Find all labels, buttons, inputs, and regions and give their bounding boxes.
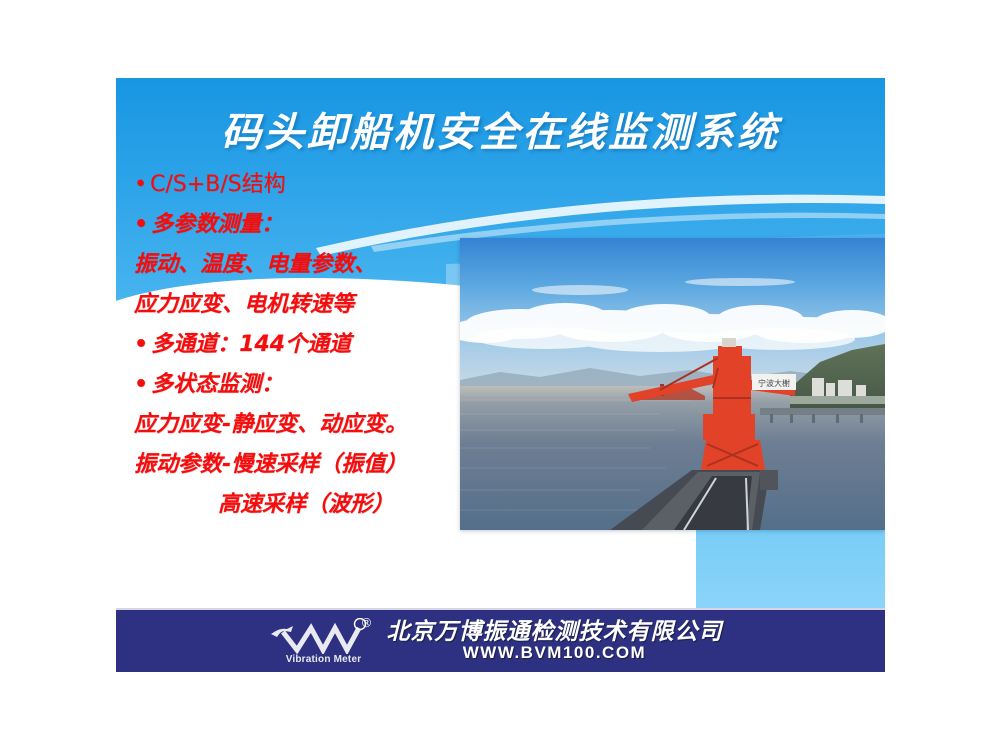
- body-line-8-text: 高速采样（波形）: [218, 492, 394, 517]
- bullet-dot: •: [134, 205, 148, 245]
- bullet-dot: •: [134, 325, 148, 365]
- footer-bar: ® Vibration Meter 北京万博振通检测技术有限公司 WWW.BVM…: [116, 608, 885, 672]
- body-line-7-text: 振动参数-慢速采样（振值）: [134, 452, 407, 477]
- body-line-3-text: 应力应变、电机转速等: [134, 292, 354, 317]
- footer-content: ® Vibration Meter 北京万博振通检测技术有限公司 WWW.BVM…: [267, 618, 723, 664]
- body-line-4-text: 多通道：144个通道: [151, 332, 351, 357]
- company-name: 北京万博振通检测技术有限公司: [387, 620, 723, 644]
- page-title: 码头卸船机安全在线监测系统: [116, 100, 885, 158]
- logo-caption: Vibration Meter: [275, 654, 373, 665]
- waveform-icon: [267, 618, 375, 654]
- bullet-dot: •: [134, 365, 148, 405]
- slide-canvas: 码头卸船机安全在线监测系统 •C/S+B/S结构 •多参数测量： 振动、温度、电…: [0, 0, 1000, 750]
- harbor-crane-photo: 宁波大榭: [460, 238, 885, 530]
- body-line-0: •C/S+B/S结构: [134, 165, 554, 205]
- content-panel: 码头卸船机安全在线监测系统 •C/S+B/S结构 •多参数测量： 振动、温度、电…: [116, 78, 885, 608]
- body-line-5-text: 多状态监测：: [151, 372, 283, 397]
- body-line-6-text: 应力应变-静应变、动应变。: [134, 412, 407, 437]
- registered-trademark-icon: ®: [361, 617, 373, 629]
- body-line-2-text: 振动、温度、电量参数、: [134, 252, 376, 277]
- vibration-meter-logo: ® Vibration Meter: [267, 618, 375, 664]
- footer-text-block: 北京万博振通检测技术有限公司 WWW.BVM100.COM: [387, 620, 723, 662]
- bullet-dot: •: [134, 165, 147, 205]
- body-line-1-text: 多参数测量：: [151, 212, 283, 237]
- body-line-0-text: C/S+B/S结构: [150, 172, 286, 197]
- company-url: WWW.BVM100.COM: [463, 644, 646, 662]
